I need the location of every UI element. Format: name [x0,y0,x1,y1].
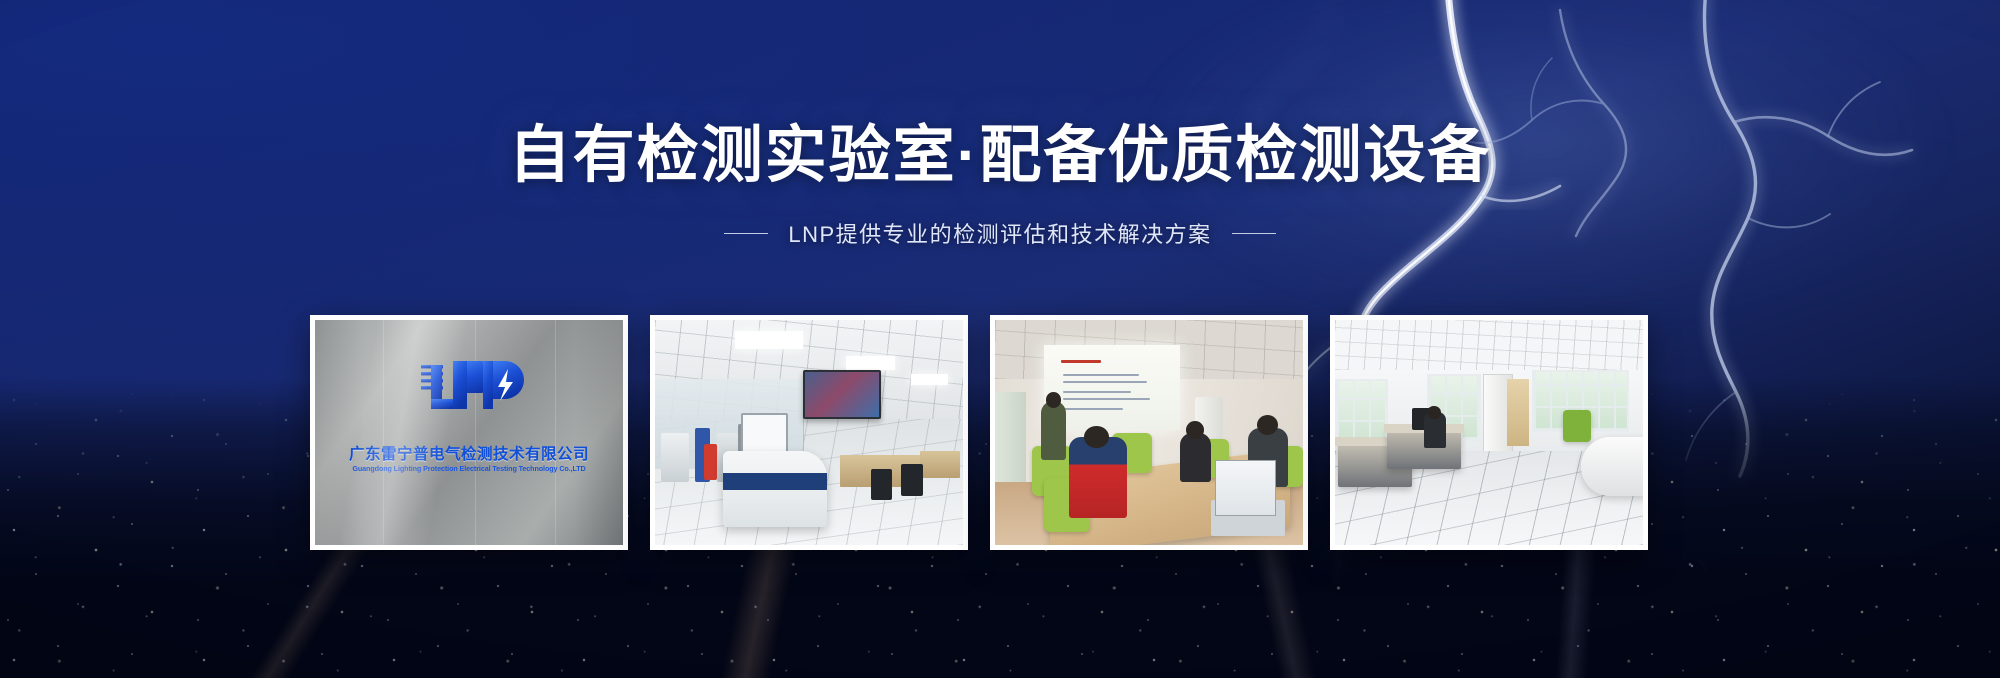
rule-left-icon [724,233,768,234]
photo-card-meeting[interactable] [990,315,1308,550]
photo-card-office[interactable] [1330,315,1648,550]
training-meeting-photo [995,320,1303,545]
office-area-photo [1335,320,1643,545]
presenter [1041,401,1066,460]
hero-subtitle: LNP提供专业的检测评估和技术解决方案 [788,217,1211,249]
photo-card-row: 广东雷宁普电气检测技术有限公司 Guangdong Lighting Prote… [310,315,1648,550]
testing-laboratory-photo [655,320,963,545]
hero-subtitle-row: LNP提供专业的检测评估和技术解决方案 [0,217,2000,249]
rule-right-icon [1232,233,1276,234]
page-title: 自有检测实验室·配备优质检测设备 [0,120,2000,191]
hero-banner: 自有检测实验室·配备优质检测设备 LNP提供专业的检测评估和技术解决方案 [0,0,2000,678]
hero-text-block: 自有检测实验室·配备优质检测设备 LNP提供专业的检测评估和技术解决方案 [0,120,2000,249]
attendee-middle [1180,433,1211,483]
wall-monitor [803,370,881,419]
reception-counter [1581,437,1643,496]
company-signage-photo: 广东雷宁普电气检测技术有限公司 Guangdong Lighting Prote… [315,320,623,545]
visitor-chair [1563,410,1591,442]
console-monitor [741,413,788,455]
attendee-front [1069,437,1128,518]
photo-card-laboratory[interactable] [650,315,968,550]
laptop [1211,500,1285,536]
photo-card-signage[interactable]: 广东雷宁普电气检测技术有限公司 Guangdong Lighting Prote… [310,315,628,550]
control-console [723,451,828,528]
